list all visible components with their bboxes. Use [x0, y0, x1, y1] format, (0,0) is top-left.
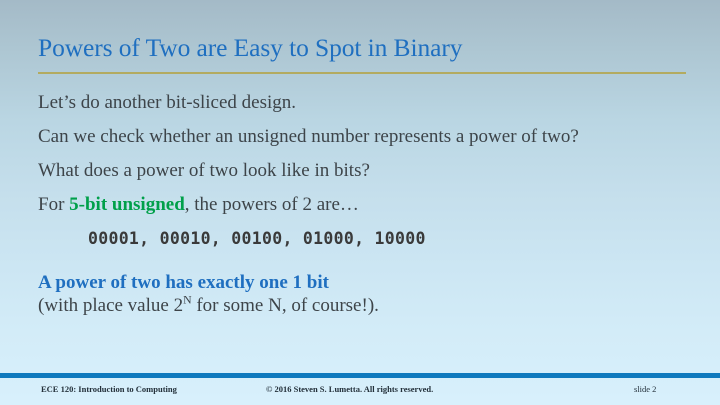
conclusion-block: A power of two has exactly one 1 bit (wi…: [38, 272, 678, 317]
footer-copyright: © 2016 Steven S. Lumetta. All rights res…: [266, 384, 433, 394]
slide-body: Let’s do another bit-sliced design. Can …: [38, 92, 678, 317]
conclusion-detail: (with place value 2N for some N, of cour…: [38, 294, 678, 317]
body-line-1: Let’s do another bit-sliced design.: [38, 92, 678, 114]
body-line-4: For 5-bit unsigned, the powers of 2 are…: [38, 194, 678, 216]
footer-accent-bar: [0, 373, 720, 378]
slide-footer: ECE 120: Introduction to Computing © 201…: [0, 384, 720, 400]
body-line-2: Can we check whether an unsigned number …: [38, 126, 678, 148]
body-line-4-prefix: For: [38, 194, 69, 215]
body-line-3: What does a power of two look like in bi…: [38, 160, 678, 182]
slide-title: Powers of Two are Easy to Spot in Binary: [38, 33, 688, 63]
conclusion-headline: A power of two has exactly one 1 bit: [38, 272, 678, 294]
conclusion-detail-prefix: (with place value 2: [38, 295, 183, 316]
conclusion-exponent: N: [183, 294, 192, 307]
footer-course-name: ECE 120: Introduction to Computing: [41, 384, 177, 394]
title-divider-rule: [38, 72, 686, 74]
footer-slide-number: slide 2: [634, 384, 656, 394]
binary-powers-list: 00001, 00010, 00100, 01000, 10000: [38, 228, 678, 250]
highlight-5-bit-unsigned: 5-bit unsigned: [69, 194, 185, 215]
body-line-4-suffix: , the powers of 2 are…: [185, 194, 359, 215]
slide-canvas: Powers of Two are Easy to Spot in Binary…: [0, 0, 720, 405]
conclusion-detail-suffix: for some N, of course!).: [192, 295, 379, 316]
